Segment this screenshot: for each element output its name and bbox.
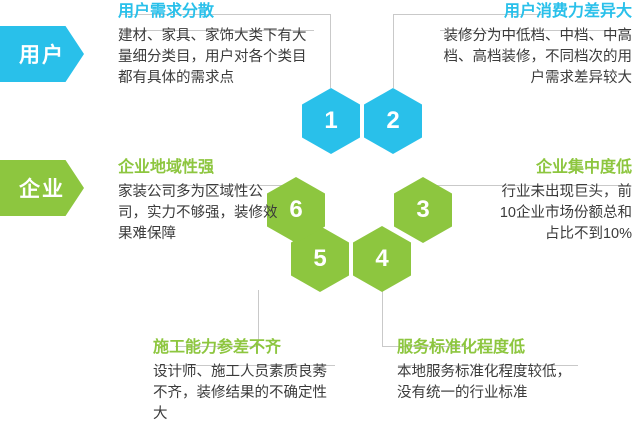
category-tag-corp-label: 企业 bbox=[19, 173, 65, 203]
info-block-6: 企业地域性强 家装公司多为区域性公司，实力不够强，装修效果难保障 bbox=[118, 158, 280, 245]
category-tag-user: 用户 bbox=[0, 26, 84, 82]
info-block-4-body: 本地服务标准化程度较低，没有统一的行业标准 bbox=[397, 362, 581, 404]
hexagon-2-number: 2 bbox=[386, 107, 399, 135]
hexagon-3[interactable]: 3 bbox=[394, 177, 452, 243]
hexagon-6-number: 6 bbox=[289, 196, 302, 224]
hexagon-1-number: 1 bbox=[324, 107, 337, 135]
hexagon-5-number: 5 bbox=[313, 245, 326, 273]
hexagon-1[interactable]: 1 bbox=[302, 88, 360, 154]
connector-line-4-down bbox=[382, 290, 383, 346]
connector-line-3 bbox=[430, 185, 490, 186]
info-block-5: 施工能力参差不齐 设计师、施工人员素质良莠不齐，装修结果的不确定性大 bbox=[153, 338, 337, 425]
info-block-4-title: 服务标准化程度低 bbox=[397, 338, 581, 358]
hexagon-4-number: 4 bbox=[375, 245, 388, 273]
hexagon-4[interactable]: 4 bbox=[353, 226, 411, 292]
info-block-5-title: 施工能力参差不齐 bbox=[153, 338, 337, 358]
hexagon-2[interactable]: 2 bbox=[364, 88, 422, 154]
category-tag-corp: 企业 bbox=[0, 160, 84, 216]
info-block-2-body: 装修分为中低档、中档、中高档、高档装修，不同档次的用户需求差异较大 bbox=[436, 26, 632, 89]
info-block-1-body: 建材、家具、家饰大类下有大量细分类目，用户对各个类目都有具体的需求点 bbox=[118, 26, 314, 89]
info-block-3-title: 企业集中度低 bbox=[488, 158, 632, 178]
diagram-canvas: 用户 企业 1 2 3 4 5 6 用户需求分散 建材、家具、家饰大类下 bbox=[0, 0, 640, 446]
info-block-1-title: 用户需求分散 bbox=[118, 2, 314, 22]
connector-line-1-down bbox=[330, 14, 331, 88]
info-block-6-title: 企业地域性强 bbox=[118, 158, 280, 178]
info-block-1: 用户需求分散 建材、家具、家饰大类下有大量细分类目，用户对各个类目都有具体的需求… bbox=[118, 2, 314, 89]
info-block-5-body: 设计师、施工人员素质良莠不齐，装修结果的不确定性大 bbox=[153, 362, 337, 425]
info-block-4: 服务标准化程度低 本地服务标准化程度较低，没有统一的行业标准 bbox=[397, 338, 581, 404]
category-tag-user-label: 用户 bbox=[19, 39, 65, 69]
info-block-3-body: 行业未出现巨头，前10企业市场份额总和占比不到10% bbox=[488, 182, 632, 245]
connector-line-2-down bbox=[393, 14, 394, 88]
info-block-2-title: 用户消费力差异大 bbox=[436, 2, 632, 22]
info-block-2: 用户消费力差异大 装修分为中低档、中档、中高档、高档装修，不同档次的用户需求差异… bbox=[436, 2, 632, 89]
hexagon-3-number: 3 bbox=[416, 196, 429, 224]
info-block-3: 企业集中度低 行业未出现巨头，前10企业市场份额总和占比不到10% bbox=[488, 158, 632, 245]
info-block-6-body: 家装公司多为区域性公司，实力不够强，装修效果难保障 bbox=[118, 182, 280, 245]
